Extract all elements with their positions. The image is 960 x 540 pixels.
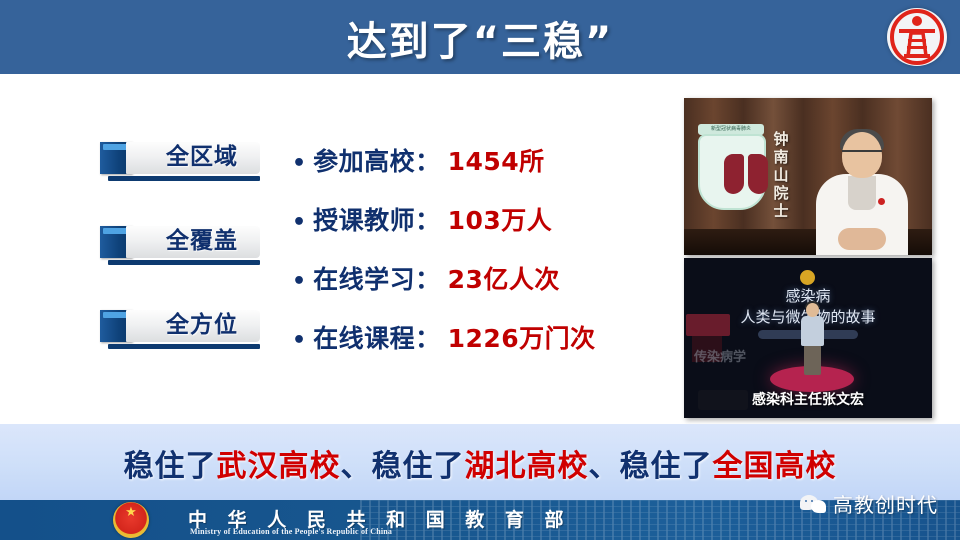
stat-label: 在线课程： xyxy=(313,319,441,355)
bullet-dot-icon: • xyxy=(292,330,306,352)
watermark: 高教创时代 xyxy=(800,489,938,518)
conclusion-segment: 、稳住了 xyxy=(341,449,465,484)
lung-graphic-icon xyxy=(698,134,766,210)
stat-label: 参加高校： xyxy=(313,142,441,178)
category-tab-fugai[interactable]: 全覆盖 xyxy=(100,224,260,264)
watermark-text: 高教创时代 xyxy=(833,489,938,518)
bullet-dot-icon: • xyxy=(292,271,306,293)
speaker-shirt xyxy=(801,316,824,346)
stage-backdrop-text: 传染病学 xyxy=(694,346,746,365)
conclusion-segment: 武汉高校 xyxy=(217,449,341,484)
stat-value: 1454所 xyxy=(448,142,545,178)
speaker-badge-icon xyxy=(878,198,885,205)
lung-right-icon xyxy=(748,154,768,194)
institution-emblem-icon xyxy=(887,8,947,66)
category-tab-label: 全区域 xyxy=(148,142,256,174)
conclusion-segment: 全国高校 xyxy=(713,449,837,484)
slide-root: 达到了“三稳” 全区域 全覆盖 xyxy=(0,0,960,540)
list-item: • 授课教师： 103万人 xyxy=(292,201,672,260)
category-tab-fangwei[interactable]: 全方位 xyxy=(100,308,260,348)
stat-label: 授课教师： xyxy=(313,201,441,237)
tab-underline xyxy=(108,344,260,349)
category-tab-list: 全区域 全覆盖 全方位 xyxy=(100,140,260,392)
category-tab-label: 全覆盖 xyxy=(148,226,256,258)
conclusion-segment: 、稳住了 xyxy=(589,449,713,484)
wechat-dot xyxy=(811,500,813,502)
stat-value: 23亿人次 xyxy=(448,260,560,296)
video-thumbnail-zhongnanshan[interactable]: 新型冠状病毒肺炎 钟南山院士 xyxy=(684,98,932,255)
stat-label: 在线学习： xyxy=(313,260,441,296)
speaker-shirt xyxy=(848,176,876,210)
conclusion-segment: 稳住了 xyxy=(124,449,217,484)
list-item: • 在线课程： 1226万门次 xyxy=(292,319,672,378)
list-item: • 在线学习： 23亿人次 xyxy=(292,260,672,319)
tab-underline xyxy=(108,176,260,181)
stat-value: 103万人 xyxy=(448,201,553,237)
video-thumbnail-zhangwenhong[interactable]: 感染病 人类与微生物的故事 传染病学 感染科主任张文宏 xyxy=(684,258,932,418)
category-tab-quyu[interactable]: 全区域 xyxy=(100,140,260,180)
national-emblem-icon xyxy=(113,502,149,538)
bullet-dot-icon: • xyxy=(292,153,306,175)
wechat-icon xyxy=(800,495,826,513)
conclusion-segment: 湖北高校 xyxy=(465,449,589,484)
conclusion-text: 稳住了武汉高校、稳住了湖北高校、稳住了全国高校 xyxy=(0,441,960,485)
bullet-dot-icon: • xyxy=(292,212,306,234)
wechat-bubble-small xyxy=(811,500,826,513)
speaker-figure xyxy=(796,303,828,377)
statistics-list: • 参加高校： 1454所 • 授课教师： 103万人 • 在线学习： 23亿人… xyxy=(292,142,672,378)
category-tab-label: 全方位 xyxy=(148,310,256,342)
video-speaker-name: 钟南山院士 xyxy=(770,130,792,220)
tab-underline xyxy=(108,260,260,265)
page-title: 达到了“三稳” xyxy=(0,9,960,67)
speaker-legs xyxy=(804,345,821,375)
speaker-figure xyxy=(812,132,912,255)
video-caption: 感染科主任张文宏 xyxy=(684,389,932,409)
ministry-name-en: Ministry of Education of the People's Re… xyxy=(190,527,392,536)
list-item: • 参加高校： 1454所 xyxy=(292,142,672,201)
wechat-dot xyxy=(805,500,807,502)
lung-left-icon xyxy=(724,154,744,194)
speaker-glasses-icon xyxy=(842,150,882,161)
speaker-head xyxy=(806,303,819,317)
stage-table xyxy=(686,314,730,336)
university-emblem-icon xyxy=(800,270,815,285)
stat-value: 1226万门次 xyxy=(448,319,596,355)
slide-header: 达到了“三稳” xyxy=(0,0,960,74)
speaker-hands xyxy=(838,228,886,250)
